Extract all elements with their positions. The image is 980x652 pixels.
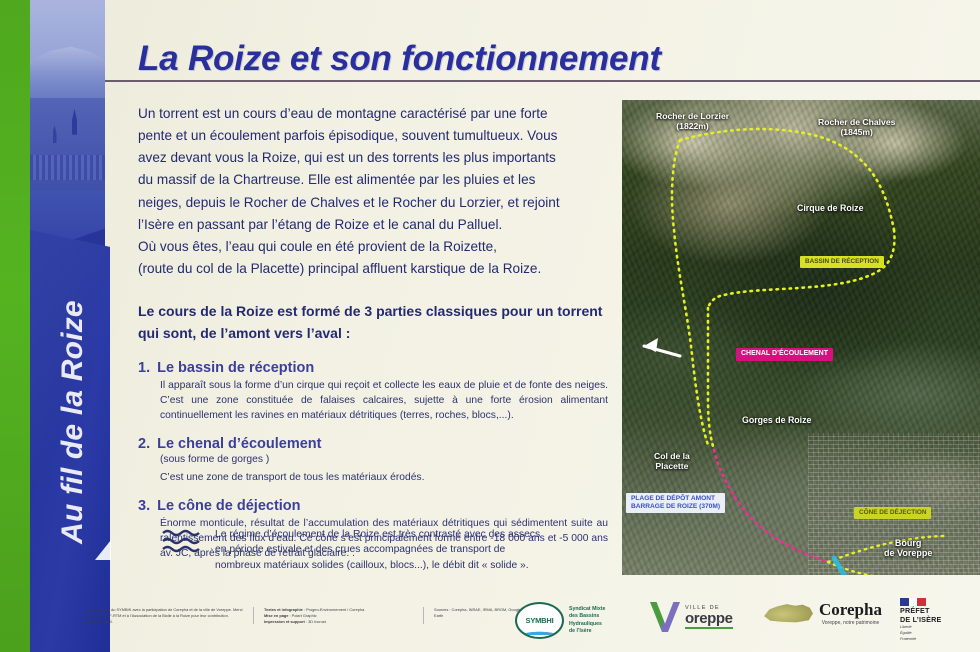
symbhi-line-4: de l’Isère xyxy=(569,628,605,635)
text-column: Un torrent est un cours d’eau de montagn… xyxy=(138,103,608,574)
label-line-2: (1822m) xyxy=(656,122,729,132)
section-body: Il apparaît sous la forme d’un cirque qu… xyxy=(160,378,608,423)
map-label-rocher-de-chalves: Rocher de Chalves (1845m) xyxy=(818,118,895,138)
map-tag-plage-depot-amont: PLAGE DE DÉPÔT AMONT BARRAGE DE ROIZE (3… xyxy=(626,493,725,513)
section-heading: 1. Le bassin de réception xyxy=(138,360,608,376)
map-tag-cone-de-dejection: CÔNE DE DÉJECTION xyxy=(854,507,931,519)
intro-line: Où vous êtes, l’eau qui coule en été pro… xyxy=(138,236,608,258)
symbhi-line-3: Hydrauliques xyxy=(569,621,605,628)
chenal-path xyxy=(714,450,828,562)
col-placette-arrow xyxy=(644,338,680,356)
credit-value: : Progeo-Environnement / Corepha xyxy=(303,607,364,612)
logo-corepha: Corepha Voreppe, notre patrimoine xyxy=(762,600,882,626)
vertical-blue-banner: Au fil de la Roize xyxy=(30,230,110,652)
credits-block: Une réalisation du SYMBHI avec la partic… xyxy=(84,607,538,624)
section-item: 2. Le chenal d’écoulement (sous forme de… xyxy=(138,436,608,485)
header-divider xyxy=(96,80,980,82)
logo-row: SYMBHI Syndicat Mixte des Bassins Hydrau… xyxy=(515,592,975,648)
label-line-2: Placette xyxy=(654,462,690,472)
prefet-line-1: PRÉFET xyxy=(900,607,942,615)
section-number: 2. xyxy=(138,436,150,452)
voreppe-big-text: oreppe xyxy=(685,611,733,629)
lead-line-1: Le cours de la Roize est formé de 3 part… xyxy=(138,301,608,323)
label-line-1: Cirque de Roize xyxy=(797,203,863,213)
symbhi-badge-icon: SYMBHI xyxy=(515,602,564,639)
map-label-col-de-la-placette: Col de la Placette xyxy=(654,452,690,472)
intro-line: neiges, depuis le Rocher de Chalves et l… xyxy=(138,192,608,214)
intro-line: avez devant vous la Roize, qui est un de… xyxy=(138,147,608,169)
page-title: La Roize et son fonctionnement xyxy=(138,39,661,79)
bassin-outline-top xyxy=(680,129,894,230)
credits-column-realisation: Une réalisation du SYMBHI avec la partic… xyxy=(84,607,253,624)
note-line-2: en période estivale et des crues accompa… xyxy=(215,542,540,557)
flow-regime-note: Le régime d’écoulement de la Roize est t… xyxy=(162,527,562,573)
map-label-gorges-de-roize: Gorges de Roize xyxy=(742,415,811,425)
banner-vertical-title: Au fil de la Roize xyxy=(56,227,90,617)
voreppe-v-icon xyxy=(650,602,680,632)
section-item: 1. Le bassin de réception Il apparaît so… xyxy=(138,360,608,423)
symbhi-badge-text: SYMBHI xyxy=(526,616,554,625)
symbhi-wave-icon xyxy=(517,626,562,635)
french-flag-icon xyxy=(900,598,926,606)
credit-line: Impression et support : 3D Incrust xyxy=(264,619,414,625)
corepha-tagline: Voreppe, notre patrimoine xyxy=(822,620,880,626)
label-line-1: Gorges de Roize xyxy=(742,415,811,425)
map-tag-chenal-decoulement: CHENAL D’ÉCOULEMENT xyxy=(736,348,833,361)
intro-line: pente et un écoulement parfois épisodiqu… xyxy=(138,125,608,147)
voreppe-wordmark: VILLE DE oreppe xyxy=(685,605,733,629)
corepha-wordmark: Corepha Voreppe, notre patrimoine xyxy=(819,601,882,626)
map-label-rocher-de-lorzier: Rocher de Lorzier (1822m) xyxy=(656,112,729,132)
credit-value: : 3D Incrust xyxy=(305,619,326,624)
section-subtitle: (sous forme de gorges ) xyxy=(160,453,608,468)
credit-label: Mise en page xyxy=(264,613,288,618)
prefet-block: PRÉFET DE L’ISÈRE Liberté Égalité Frater… xyxy=(900,598,942,642)
intro-line: Un torrent est un cours d’eau de montagn… xyxy=(138,103,608,125)
map-tag-bassin-de-reception: BASSIN DE RÉCEPTION xyxy=(800,256,884,268)
left-green-accent-strip xyxy=(0,0,30,652)
label-line-2: de Voreppe xyxy=(884,548,932,558)
symbhi-line-2: des Bassins xyxy=(569,613,605,620)
tag-line-2: BARRAGE DE ROIZE (370M) xyxy=(631,503,720,511)
corepha-name: Corepha xyxy=(819,601,882,618)
map-label-bourg-de-voreppe: Bourg de Voreppe xyxy=(884,538,932,559)
map-label-cirque-de-roize: Cirque de Roize xyxy=(797,203,863,213)
prefet-motto-2: Égalité xyxy=(900,631,942,636)
bassin-outline-right xyxy=(708,230,894,308)
intro-line: (route du col de la Placette) principal … xyxy=(138,258,608,280)
prefet-motto-1: Liberté xyxy=(900,625,942,630)
bassin-outline-inner xyxy=(708,308,714,450)
section-number: 3. xyxy=(138,498,150,514)
bassin-outline-left xyxy=(672,140,708,445)
waves-icon xyxy=(162,528,202,554)
tag-line-1: PLAGE DE DÉPÔT AMONT xyxy=(631,495,720,503)
lead-line-2: qui sont, de l’amont vers l’aval : xyxy=(138,323,608,345)
credit-label: Textes et infographie xyxy=(264,607,303,612)
logo-ville-de-voreppe: VILLE DE oreppe xyxy=(650,602,733,632)
poster-panel: Au fil de la Roize La Roize et son fonct… xyxy=(0,0,980,652)
corepha-emblem-icon xyxy=(762,600,814,626)
lead-paragraph: Le cours de la Roize est formé de 3 part… xyxy=(138,301,608,344)
logo-symbhi: SYMBHI Syndicat Mixte des Bassins Hydrau… xyxy=(515,602,605,639)
mountain-village-photo xyxy=(30,0,105,272)
section-body: C’est une zone de transport de tous les … xyxy=(160,470,608,485)
note-line-3: nombreux matériaux solides (cailloux, bl… xyxy=(215,558,540,573)
intro-paragraph: Un torrent est un cours d’eau de montagn… xyxy=(138,103,608,280)
section-title: Le cône de déjection xyxy=(157,498,300,514)
section-heading: 3. Le cône de déjection xyxy=(138,498,608,514)
symbhi-wordmark: Syndicat Mixte des Bassins Hydrauliques … xyxy=(569,606,605,634)
photo-town xyxy=(30,155,105,179)
prefet-line-2: DE L’ISÈRE xyxy=(900,616,942,624)
section-title: Le bassin de réception xyxy=(157,360,314,376)
label-line-1: Bourg xyxy=(884,538,932,548)
credit-value: : Polart Graphic xyxy=(288,613,316,618)
note-line-1: Le régime d’écoulement de la Roize est t… xyxy=(215,527,540,542)
prefet-motto-3: Fraternité xyxy=(900,637,942,642)
symbhi-line-1: Syndicat Mixte xyxy=(569,606,605,613)
section-number: 1. xyxy=(138,360,150,376)
note-text: Le régime d’écoulement de la Roize est t… xyxy=(215,527,540,573)
intro-line: du massif de la Chartreuse. Elle est ali… xyxy=(138,169,608,191)
section-title: Le chenal d’écoulement xyxy=(157,436,321,452)
logo-prefet-de-lisere: PRÉFET DE L’ISÈRE Liberté Égalité Frater… xyxy=(900,598,942,642)
credit-label: Impression et support xyxy=(264,619,305,624)
aerial-map: Rocher de Lorzier (1822m) Rocher de Chal… xyxy=(622,100,980,575)
intro-line: l’Isère en passant par l’étang de Roize … xyxy=(138,214,608,236)
label-line-2: (1845m) xyxy=(818,128,895,138)
section-heading: 2. Le chenal d’écoulement xyxy=(138,436,608,452)
credits-column-production: Textes et infographie : Progeo-Environne… xyxy=(253,607,423,624)
